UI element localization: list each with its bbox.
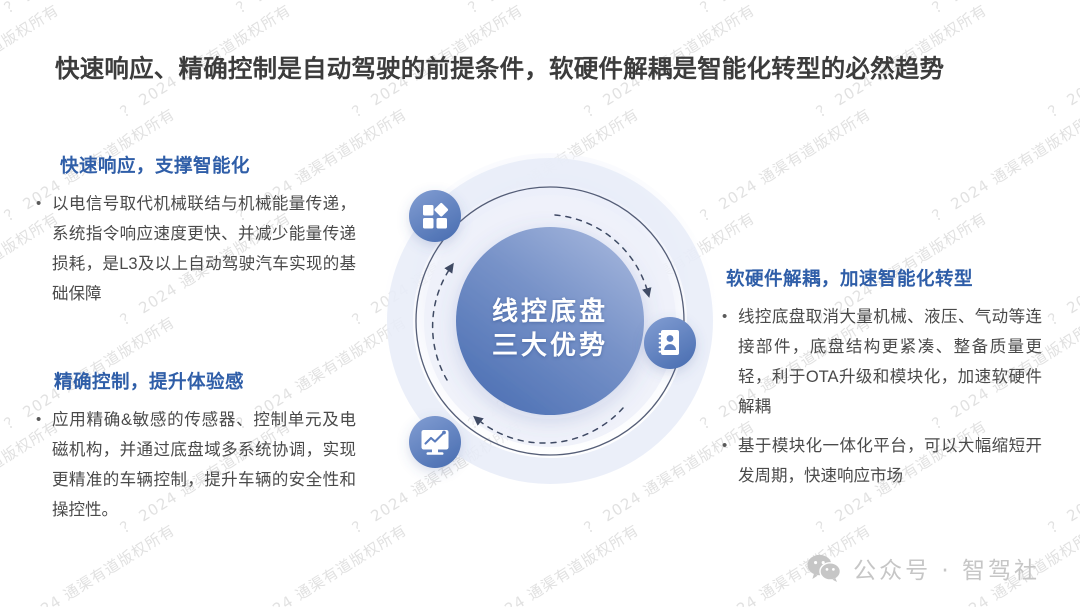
diagram-svg bbox=[365, 143, 735, 513]
bullet-dot-icon: • bbox=[36, 189, 52, 219]
block-heading: 软硬件解耦，加速智能化转型 bbox=[722, 265, 1042, 291]
watermark-text: ？ 2024 通渠有道版权所有 bbox=[928, 103, 1080, 226]
watermark-text: ？ 2024 通渠有道版权所有 bbox=[696, 0, 875, 18]
text-block-fast-response: 快速响应，支撑智能化 • 以电信号取代机械联结与机械能量传递，系统指令响应速度更… bbox=[36, 152, 356, 318]
node-monitor[interactable] bbox=[409, 416, 461, 468]
watermark-text: ？ 2024 通渠有道版权所有 bbox=[464, 519, 643, 607]
bullet-item: • 以电信号取代机械联结与机械能量传递，系统指令响应速度更快、并减少能量传递损耗… bbox=[36, 189, 356, 309]
node-grid[interactable] bbox=[409, 190, 461, 242]
bullet-text: 线控底盘取消大量机械、液压、气动等连接部件，底盘结构更紧凑、整备质量更轻，利于O… bbox=[738, 302, 1042, 422]
watermark-text: ？ 2024 通渠有道版权所有 bbox=[464, 0, 643, 18]
text-block-decoupling: 软硬件解耦，加速智能化转型 • 线控底盘取消大量机械、液压、气动等连接部件，底盘… bbox=[722, 265, 1042, 500]
brand-label: 公众号 · 智驾社 bbox=[853, 551, 1040, 585]
brand-footer: 公众号 · 智驾社 bbox=[807, 551, 1040, 585]
watermark-text: ？ 2024 通渠有道版权所有 bbox=[0, 0, 179, 18]
diagram-core-circle bbox=[456, 227, 644, 415]
bullet-dot-icon: • bbox=[722, 431, 738, 461]
text-block-precise-control: 精确控制，提升体验感 • 应用精确&敏感的传感器、控制单元及电磁机构，并通过底盘… bbox=[36, 368, 356, 534]
node-grid-circle bbox=[409, 190, 461, 242]
slide-canvas: ？ 2024 通渠有道版权所有？ 2024 通渠有道版权所有？ 2024 通渠有… bbox=[0, 0, 1080, 607]
bullet-item: • 线控底盘取消大量机械、液压、气动等连接部件，底盘结构更紧凑、整备质量更轻，利… bbox=[722, 302, 1042, 422]
bullet-text: 应用精确&敏感的传感器、控制单元及电磁机构，并通过底盘域多系统协调，实现更精准的… bbox=[52, 405, 356, 525]
block-heading: 精确控制，提升体验感 bbox=[36, 368, 356, 394]
bullet-text: 基于模块化一体化平台，可以大幅缩短开发周期，快速响应市场 bbox=[738, 431, 1042, 491]
watermark-text: ？ 2024 通渠有道版权所有 bbox=[928, 0, 1080, 18]
node-contact[interactable] bbox=[644, 317, 696, 369]
watermark-text: ？ 2024 通渠有道版权所有 bbox=[1044, 415, 1080, 538]
watermark-text: ？ 2024 通渠有道版权所有 bbox=[1044, 0, 1080, 122]
contact-card-icon bbox=[659, 330, 679, 355]
circular-diagram: 线控底盘 三大优势 bbox=[365, 143, 735, 513]
watermark-text: ？ 2024 通渠有道版权所有 bbox=[0, 0, 63, 122]
bullet-dot-icon: • bbox=[36, 405, 52, 435]
page-title: 快速响应、精确控制是自动驾驶的前提条件，软硬件解耦是智能化转型的必然趋势 bbox=[55, 50, 1045, 85]
bullet-item: • 应用精确&敏感的传感器、控制单元及电磁机构，并通过底盘域多系统协调，实现更精… bbox=[36, 405, 356, 525]
bullet-dot-icon: • bbox=[722, 302, 738, 332]
bullet-item: • 基于模块化一体化平台，可以大幅缩短开发周期，快速响应市场 bbox=[722, 431, 1042, 491]
watermark-text: ？ 2024 通渠有道版权所有 bbox=[232, 0, 411, 18]
bullet-text: 以电信号取代机械联结与机械能量传递，系统指令响应速度更快、并减少能量传递损耗，是… bbox=[52, 189, 356, 309]
block-heading: 快速响应，支撑智能化 bbox=[36, 152, 356, 178]
watermark-text: ？ 2024 通渠有道版权所有 bbox=[1044, 207, 1080, 330]
wechat-icon bbox=[807, 554, 841, 582]
